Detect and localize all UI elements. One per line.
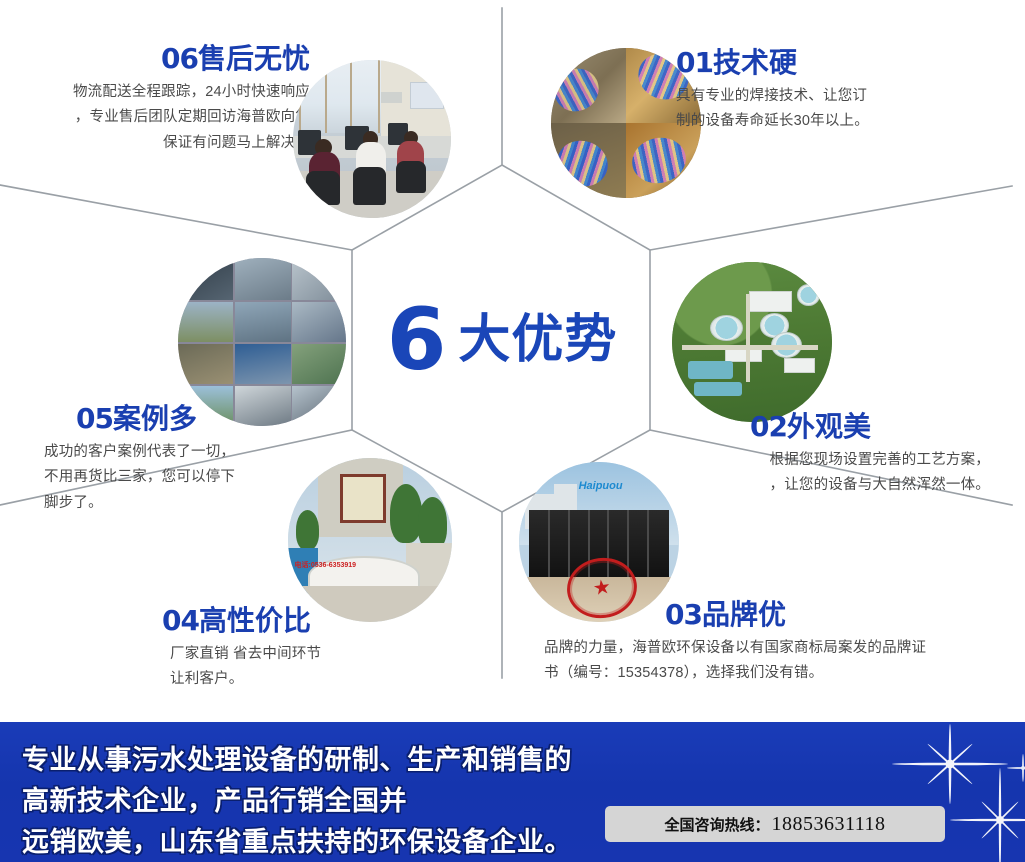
haipuou-logo: Haipuou — [567, 476, 634, 495]
feature-01-desc: 具有专业的焊接技术、让您订 制的设备寿命延长30年以上。 — [676, 84, 976, 135]
hotline-number: 18853631118 — [772, 813, 886, 836]
feature-04-desc-line-1: 厂家直销 省去中间环节 — [170, 642, 438, 667]
tank-rib-6 — [647, 510, 649, 582]
feature-01-number: 01 — [676, 46, 713, 79]
case-cell-6 — [292, 302, 346, 342]
feature-06-desc-line-1: 物流配送全程跟踪，24小时快速响应 — [20, 80, 310, 105]
office-chair-1 — [306, 171, 341, 206]
banner-line-2: 远销欧美，山东省重点扶持的环保设备企业。 — [22, 822, 582, 862]
hotline-label: 全国咨询热线： — [664, 814, 769, 835]
case-cell-4 — [178, 302, 233, 342]
hotline-box[interactable]: 全国咨询热线： 18853631118 — [605, 806, 945, 842]
aerial-plant-photo[interactable] — [672, 262, 832, 422]
plant-building-3 — [784, 358, 815, 373]
factory-gate-content: 电话:0536-6353919 — [288, 458, 452, 622]
window-frame-1 — [299, 60, 301, 133]
tank-rib-1 — [548, 510, 550, 582]
case-cell-1 — [178, 258, 233, 300]
aeration-pond-2 — [694, 382, 742, 396]
banner-line-1: 专业从事污水处理设备的研制、生产和销售的高新技术企业，产品行销全国并 — [22, 740, 582, 822]
feature-01-title: 01技术硬 — [676, 48, 976, 79]
window-frame-3 — [350, 60, 352, 133]
feature-06-desc-line-2: ，专业售后团队定期回访海普欧向您 — [20, 105, 310, 130]
feature-06-desc: 物流配送全程跟踪，24小时快速响应 ，专业售后团队定期回访海普欧向您 保证有问题… — [20, 80, 310, 156]
feature-04-number: 04 — [162, 604, 199, 637]
feature-05-cases[interactable]: 05案例多 成功的客户案例代表了一切， 不用再货比三家，您可以停下 脚步了。 — [18, 404, 293, 516]
clarifier-tank-1 — [710, 315, 742, 341]
case-cell-8 — [235, 344, 290, 384]
gate-phone-text: 电话:0536-6353919 — [295, 560, 357, 570]
feature-01-desc-line-1: 具有专业的焊接技术、让您订 — [676, 84, 976, 109]
case-cell-7 — [178, 344, 233, 384]
window-frame-2 — [325, 60, 327, 133]
center-badge: 6 大优势 — [352, 290, 652, 390]
stamp-star-icon: ★ — [592, 577, 613, 599]
office-chair-3 — [396, 161, 426, 193]
aerial-plant-content — [672, 262, 832, 422]
wall-poster — [410, 82, 444, 109]
feature-05-number: 05 — [76, 402, 113, 435]
feature-04-desc-line-2: 让利客户。 — [170, 667, 438, 692]
case-cell-5 — [235, 302, 290, 342]
feature-03-desc-line-2: 书（编号：15354378），选择我们没有错。 — [544, 661, 1020, 686]
feature-02-title: 02外观美 — [750, 412, 1025, 443]
feature-01-tech[interactable]: 01技术硬 具有专业的焊接技术、让您订 制的设备寿命延长30年以上。 — [676, 48, 976, 135]
spoke-upper-right — [650, 186, 1012, 250]
feature-03-number: 03 — [665, 598, 702, 631]
company-signboard — [340, 474, 385, 523]
office-chair-2 — [353, 167, 386, 205]
case-cell-2 — [235, 258, 290, 300]
haipuou-logo-text: Haipuou — [579, 480, 623, 492]
feature-04-desc: 厂家直销 省去中间环节 让利客户。 — [108, 642, 438, 693]
feature-05-title-text: 案例多 — [113, 403, 197, 434]
case-cell-12 — [292, 386, 346, 426]
feature-04-title: 04高性价比 — [108, 606, 438, 637]
feature-02-title-text: 外观美 — [787, 411, 871, 442]
case-cell-3 — [292, 258, 346, 300]
case-grid-photo[interactable] — [178, 258, 346, 426]
aeration-pond-1 — [688, 361, 733, 379]
case-cell-9 — [292, 344, 346, 384]
tank-certificate-photo[interactable]: Haipuou ★ — [519, 462, 679, 622]
feature-06-desc-line-3: 保证有问题马上解决。 — [20, 131, 310, 156]
feature-01-title-text: 技术硬 — [713, 47, 797, 78]
feature-06-number: 06 — [161, 42, 198, 75]
feature-03-desc: 品牌的力量，海普欧环保设备以有国家商标局案发的品牌证 书（编号：15354378… — [540, 636, 1020, 687]
factory-gate-photo[interactable]: 电话:0536-6353919 — [288, 458, 452, 622]
banner-text: 专业从事污水处理设备的研制、生产和销售的高新技术企业，产品行销全国并 远销欧美，… — [22, 740, 582, 862]
plant-road-2 — [746, 294, 751, 382]
feature-05-desc-line-3: 脚步了。 — [44, 491, 293, 516]
feature-03-brand[interactable]: 03品牌优 品牌的力量，海普欧环保设备以有国家商标局案发的品牌证 书（编号：15… — [540, 600, 1020, 687]
feature-03-title-text: 品牌优 — [702, 599, 786, 630]
feature-05-title: 05案例多 — [18, 404, 293, 435]
center-label: 大优势 — [458, 314, 617, 366]
feature-05-desc-line-1: 成功的客户案例代表了一切， — [44, 440, 293, 465]
window-frame-4 — [378, 60, 380, 133]
feature-03-title: 03品牌优 — [540, 600, 1020, 631]
feature-02-number: 02 — [750, 410, 787, 443]
feature-02-desc-line-1: 根据您现场设置完善的工艺方案， — [728, 448, 990, 473]
feature-02-appearance[interactable]: 02外观美 根据您现场设置完善的工艺方案， ，让您的设备与大自然浑然一体。 — [750, 412, 1025, 499]
office-photo-content — [293, 60, 451, 218]
gate-tree-3 — [296, 510, 319, 549]
office-photo[interactable] — [293, 60, 451, 218]
feature-04-value[interactable]: 04高性价比 厂家直销 省去中间环节 让利客户。 — [108, 606, 438, 693]
feature-06-service[interactable]: 06售后无忧 物流配送全程跟踪，24小时快速响应 ，专业售后团队定期回访海普欧向… — [20, 44, 310, 156]
feature-01-desc-line-2: 制的设备寿命延长30年以上。 — [676, 109, 976, 134]
feature-06-title: 06售后无忧 — [20, 44, 310, 75]
feature-03-desc-line-1: 品牌的力量，海普欧环保设备以有国家商标局案发的品牌证 — [544, 636, 1020, 661]
window-shape — [299, 60, 381, 133]
plant-building-1 — [749, 291, 793, 312]
infographic-root: 6 大优势 06售后无忧 物流配送全程跟踪，24小时快速响应 ，专业售后团队定期… — [0, 0, 1025, 862]
tank-photo-content: Haipuou ★ — [519, 462, 679, 622]
air-conditioner — [381, 92, 402, 103]
digester-tank — [797, 284, 820, 305]
gate-tree-2 — [418, 497, 448, 549]
feature-04-title-text: 高性价比 — [199, 605, 311, 636]
center-number: 6 — [387, 297, 445, 383]
feature-05-desc: 成功的客户案例代表了一切， 不用再货比三家，您可以停下 脚步了。 — [18, 440, 293, 516]
feature-02-desc-line-2: ，让您的设备与大自然浑然一体。 — [728, 473, 990, 498]
feature-05-desc-line-2: 不用再货比三家，您可以停下 — [44, 465, 293, 490]
feature-02-desc: 根据您现场设置完善的工艺方案， ，让您的设备与大自然浑然一体。 — [728, 448, 990, 499]
tank-rib-2 — [568, 510, 570, 582]
case-grid-content — [178, 258, 346, 426]
